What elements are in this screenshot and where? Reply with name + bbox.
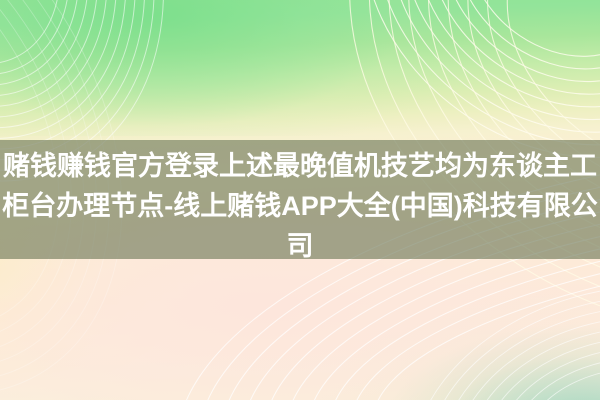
banner-caption-text: 赌钱赚钱官方登录上述最晚值机技艺均为东谈主工柜台办理节点-线上赌钱APP大全(中… xyxy=(0,146,600,259)
decorative-banner: 赌钱赚钱官方登录上述最晚值机技艺均为东谈主工柜台办理节点-线上赌钱APP大全(中… xyxy=(0,0,600,400)
caption-overlay-band: 赌钱赚钱官方登录上述最晚值机技艺均为东谈主工柜台办理节点-线上赌钱APP大全(中… xyxy=(0,140,600,259)
background-green-wash xyxy=(0,0,468,136)
background-teal-accent xyxy=(276,272,600,400)
